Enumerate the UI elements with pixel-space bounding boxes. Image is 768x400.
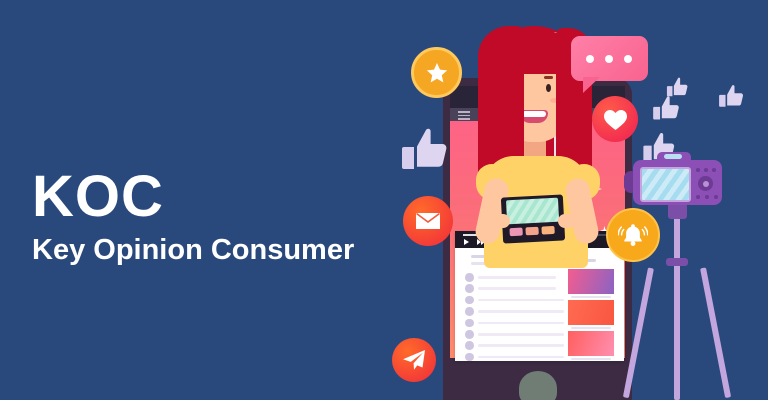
eyebrow-right <box>544 76 553 79</box>
list-item[interactable] <box>465 341 563 350</box>
heart-badge[interactable] <box>592 96 638 142</box>
page-subtitle: Key Opinion Consumer <box>32 236 412 265</box>
bell-icon <box>618 221 648 249</box>
camera-mount <box>668 203 687 219</box>
palette-pan <box>525 227 538 236</box>
avatar <box>465 296 474 305</box>
thumbs-up-icon <box>666 75 690 99</box>
avatar <box>465 273 474 282</box>
camera-button <box>704 168 708 172</box>
comment-text-line <box>478 322 564 325</box>
avatar <box>465 319 474 328</box>
camera-button <box>714 195 718 199</box>
camera-button <box>696 195 700 199</box>
avatar <box>465 284 474 293</box>
speech-bubble <box>571 36 648 81</box>
list-item[interactable] <box>465 296 563 305</box>
envelope-icon <box>415 211 441 231</box>
list-item[interactable] <box>465 330 563 339</box>
comment-text-line <box>478 333 564 336</box>
heart-icon <box>603 108 628 131</box>
tripod-band <box>666 258 688 266</box>
list-item[interactable] <box>465 284 563 293</box>
list-item[interactable] <box>465 273 563 282</box>
thumbnail-image <box>568 269 614 294</box>
avatar <box>465 307 474 316</box>
list-item[interactable] <box>465 319 563 328</box>
headline-block: KOC Key Opinion Consumer <box>32 168 412 265</box>
camera-screen <box>640 167 691 202</box>
camera-flash <box>664 154 682 159</box>
eye-right <box>546 84 551 92</box>
palette-mirror <box>506 198 559 225</box>
bubble-dot <box>624 55 632 63</box>
bubble-dot <box>605 55 613 63</box>
comment-text-line <box>478 356 564 359</box>
thumbnail-caption-line <box>571 358 611 360</box>
thumbnail-image <box>568 300 614 325</box>
hand-right <box>558 214 576 228</box>
thumbnail-caption-line <box>571 296 611 298</box>
hand-left <box>492 214 510 228</box>
palette-pan <box>509 228 522 237</box>
comment-text-line <box>478 299 564 302</box>
tripod-leg-right <box>700 267 731 398</box>
bell-badge[interactable] <box>606 208 660 262</box>
avatar <box>465 330 474 339</box>
palette-pan <box>541 226 554 235</box>
paper-plane-icon <box>402 349 426 371</box>
thumbnail-purple-pink[interactable] <box>568 269 614 294</box>
bubble-dot <box>586 55 594 63</box>
thumbnail-image <box>568 331 614 356</box>
home-button[interactable] <box>519 371 557 400</box>
avatar <box>465 353 474 362</box>
comment-text-line <box>478 310 564 313</box>
mail-badge[interactable] <box>403 196 453 246</box>
camera-button <box>705 195 709 199</box>
mouth <box>520 110 548 123</box>
send-badge[interactable] <box>392 338 436 382</box>
avatar <box>465 341 474 350</box>
hero-illustration <box>380 0 768 400</box>
makeup-palette <box>501 194 565 243</box>
comment-text-line <box>478 276 556 279</box>
list-item[interactable] <box>465 353 563 362</box>
thumbs-up-icon <box>400 123 452 175</box>
thumbnail-caption-line <box>571 327 611 329</box>
feed-body <box>461 253 618 357</box>
thumbs-up-icon <box>718 82 746 110</box>
page-title: KOC <box>32 168 412 226</box>
star-badge[interactable] <box>411 47 462 98</box>
star-icon <box>425 61 449 85</box>
camera-dial <box>698 176 713 191</box>
camera-button <box>712 168 716 172</box>
camera-button <box>696 168 700 172</box>
thumbnail-pink[interactable] <box>568 331 614 356</box>
list-item[interactable] <box>465 307 563 316</box>
comment-text-line <box>478 344 564 347</box>
comment-text-line <box>478 287 556 290</box>
koc-banner: KOC Key Opinion Consumer <box>0 0 768 400</box>
thumbnail-coral[interactable] <box>568 300 614 325</box>
